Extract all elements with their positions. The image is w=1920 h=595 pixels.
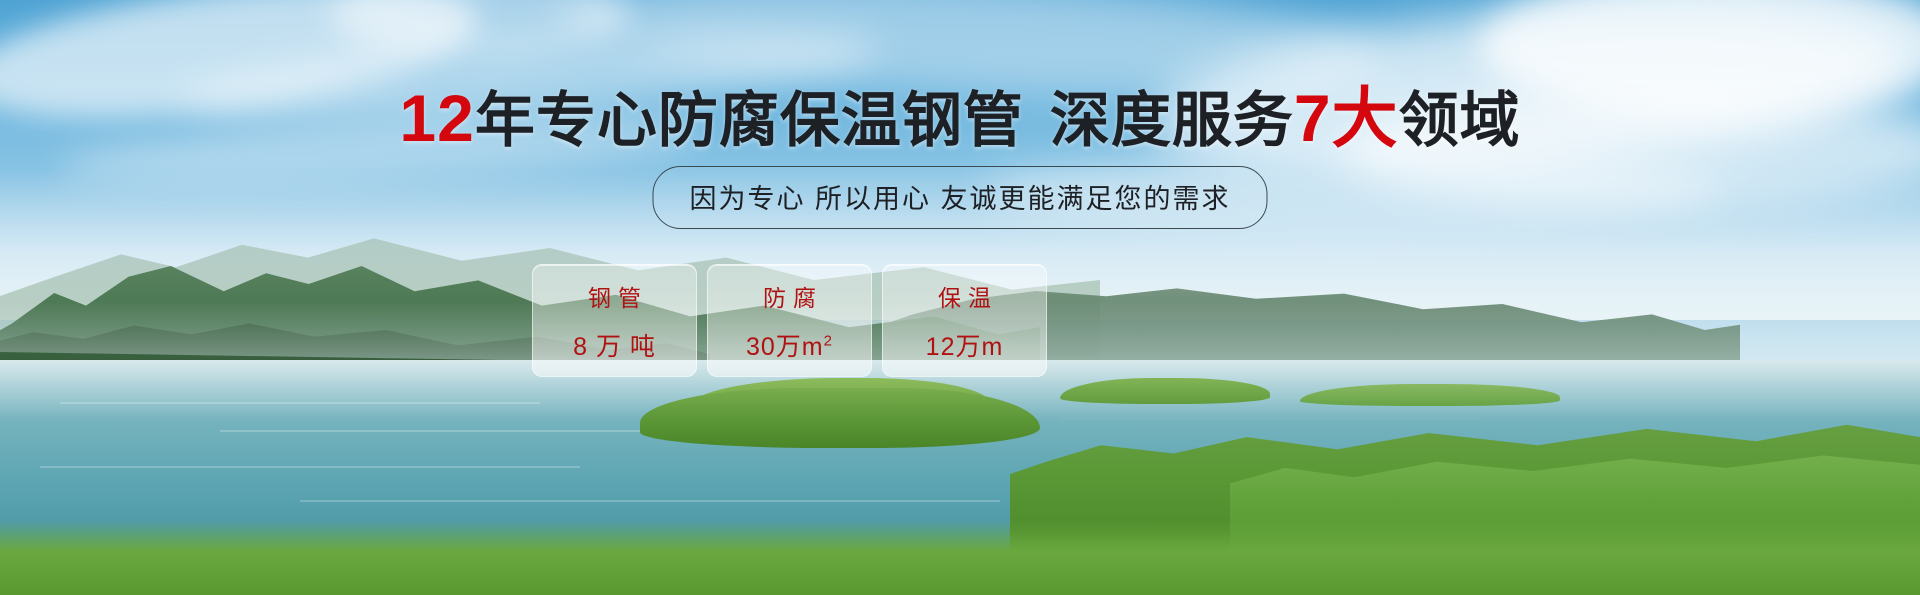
stat-card-insulation[interactable]: 保温 12万m	[882, 264, 1047, 377]
stat-card-anticorrosion[interactable]: 防腐 30万m2	[707, 264, 872, 377]
banner-subtitle-pill: 因为专心 所以用心 友诚更能满足您的需求	[652, 166, 1267, 229]
water-ripple	[40, 466, 580, 468]
island-main	[640, 388, 1040, 448]
headline-years-number: 12	[399, 81, 474, 155]
stat-card-value-exponent: 2	[824, 332, 833, 349]
water-ripple	[1060, 418, 1480, 420]
stat-card-label: 防腐	[756, 279, 823, 313]
water-ripple	[300, 500, 1000, 502]
water-ripple	[60, 402, 540, 404]
stat-card-value-text: 8 万 吨	[573, 333, 656, 361]
headline-fields-count: 7大	[1294, 81, 1399, 155]
stat-card-value: 8 万 吨	[573, 327, 656, 363]
stat-card-label: 钢管	[581, 279, 648, 313]
grass-field-bottom	[0, 520, 1920, 595]
stat-card-group: 钢管 8 万 吨 防腐 30万m2 保温 12万m	[532, 264, 1047, 377]
headline-text-service: 深度服务	[1050, 87, 1294, 154]
stat-card-steel-pipe[interactable]: 钢管 8 万 吨	[532, 264, 697, 377]
stat-card-value-text: 30万m	[746, 333, 824, 361]
banner-subtitle-text: 因为专心 所以用心 友诚更能满足您的需求	[689, 184, 1230, 214]
stat-card-value: 12万m	[926, 327, 1004, 363]
grass-islet	[1300, 384, 1560, 406]
stat-card-value-text: 12万m	[926, 333, 1004, 361]
grass-islet	[1060, 378, 1270, 404]
headline-text-primary: 年专心防腐保温钢管	[475, 87, 1024, 154]
headline-text-fields: 领域	[1399, 87, 1521, 154]
hero-banner: 12年专心防腐保温钢管深度服务7大领域 因为专心 所以用心 友诚更能满足您的需求…	[0, 0, 1920, 595]
banner-headline: 12年专心防腐保温钢管深度服务7大领域	[0, 86, 1920, 153]
stat-card-value: 30万m2	[746, 327, 833, 363]
stat-card-label: 保温	[931, 279, 998, 313]
